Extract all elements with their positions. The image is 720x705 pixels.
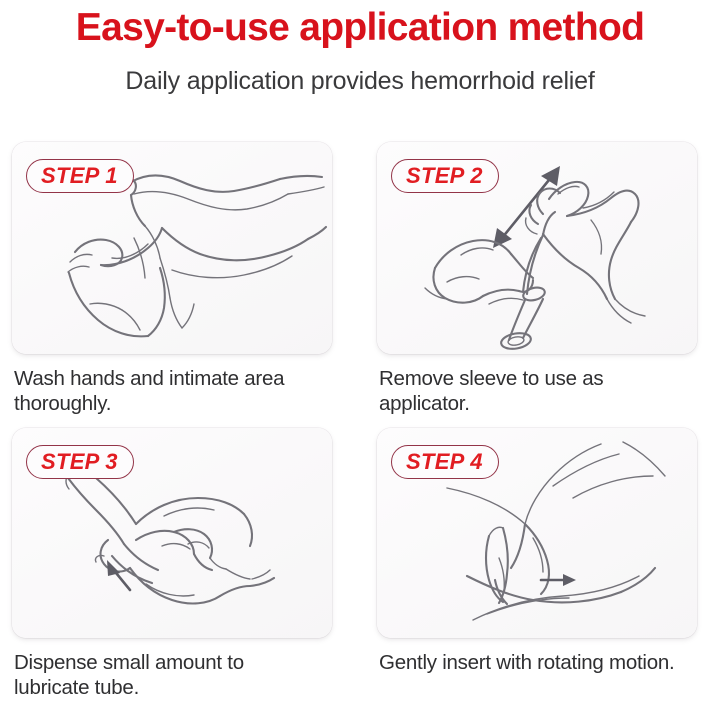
steps-grid: STEP 1 bbox=[12, 142, 708, 700]
step-caption-1: Wash hands and intimate area thoroughly. bbox=[14, 366, 332, 416]
step-card-3: STEP 3 bbox=[12, 428, 332, 638]
double-arrow bbox=[493, 166, 560, 248]
header: Easy-to-use application method Daily app… bbox=[0, 0, 720, 98]
up-left-arrow bbox=[107, 560, 130, 590]
step-caption-4: Gently insert with rotating motion. bbox=[379, 650, 697, 675]
page-title: Easy-to-use application method bbox=[0, 4, 720, 52]
step-badge-1: STEP 1 bbox=[26, 159, 134, 193]
step-caption-3: Dispense small amount to lubricate tube. bbox=[14, 650, 332, 700]
step-badge-2: STEP 2 bbox=[391, 159, 499, 193]
step-card-4: STEP 4 bbox=[377, 428, 697, 638]
step-card-1: STEP 1 bbox=[12, 142, 332, 354]
page-subtitle: Daily application provides hemorrhoid re… bbox=[0, 64, 720, 98]
step-block-2: STEP 2 bbox=[377, 142, 697, 416]
step-badge-4: STEP 4 bbox=[391, 445, 499, 479]
step-badge-3: STEP 3 bbox=[26, 445, 134, 479]
step-card-2: STEP 2 bbox=[377, 142, 697, 354]
step-block-4: STEP 4 bbox=[377, 428, 697, 700]
step-block-3: STEP 3 bbox=[12, 428, 332, 700]
step-caption-2: Remove sleeve to use as applicator. bbox=[379, 366, 697, 416]
step-block-1: STEP 1 bbox=[12, 142, 332, 416]
